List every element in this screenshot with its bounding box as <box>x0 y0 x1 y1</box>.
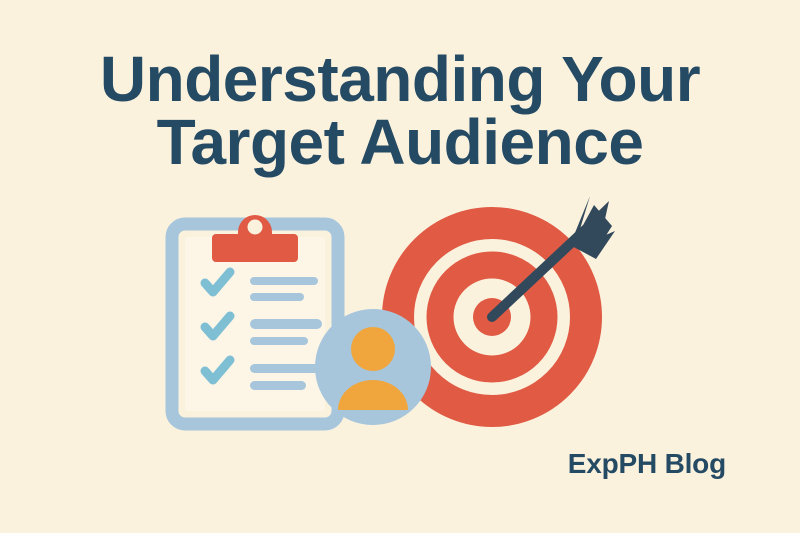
title-line-2: Target Audience <box>0 111 800 174</box>
audience-person-avatar <box>315 309 431 425</box>
brand-label: ExpPH Blog <box>568 448 726 480</box>
checklist-clipboard-icon <box>172 215 338 424</box>
poster-canvas: Understanding Your Target Audience ExpPH… <box>0 0 800 533</box>
checklist-line <box>250 319 322 329</box>
checklist-line <box>250 277 318 285</box>
checklist-line <box>250 364 320 373</box>
checklist-line <box>250 337 308 345</box>
checklist-line <box>250 293 304 301</box>
avatar-head-icon <box>351 327 395 371</box>
clip-hole <box>248 220 263 235</box>
title-line-1: Understanding Your <box>0 48 800 111</box>
page-title: Understanding Your Target Audience <box>0 48 800 173</box>
checklist-line <box>250 381 306 390</box>
